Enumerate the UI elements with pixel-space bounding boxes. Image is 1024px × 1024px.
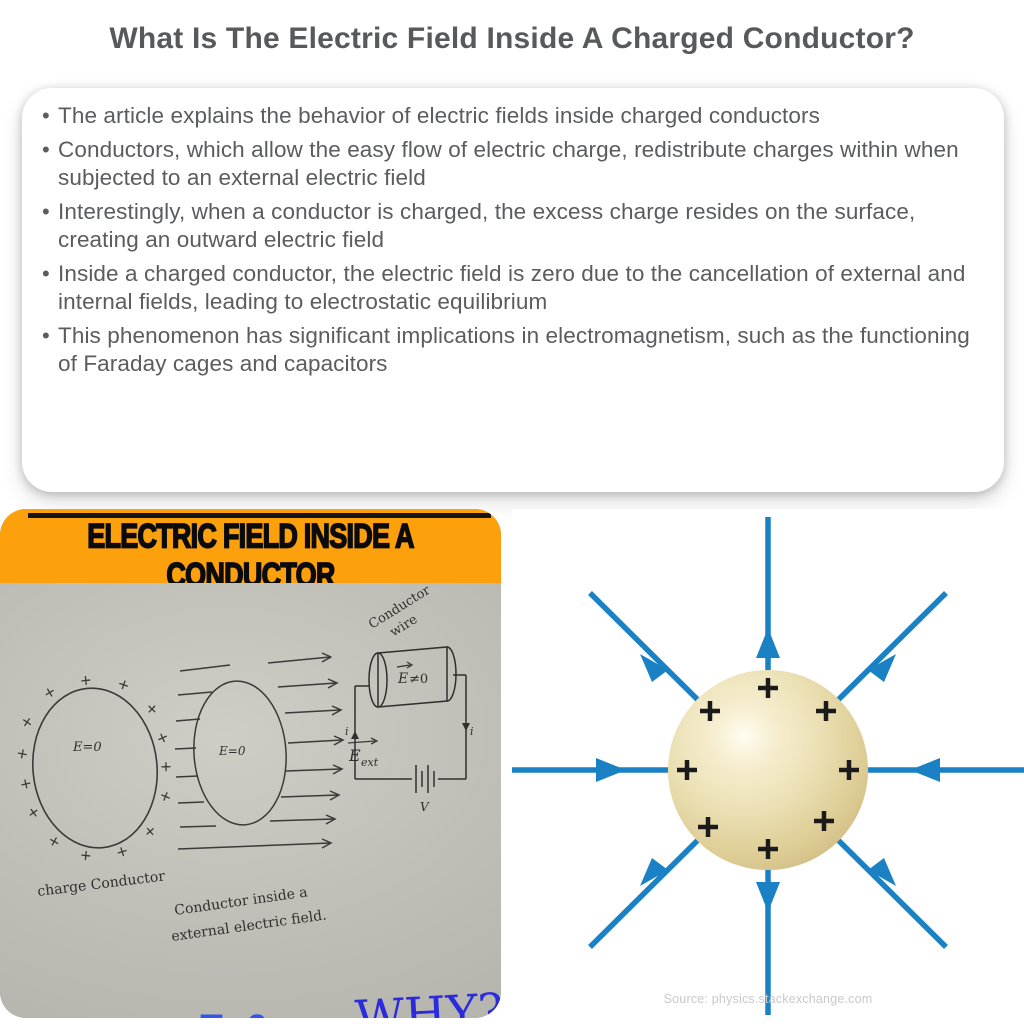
field-line-up <box>756 517 780 674</box>
surface-charge-marks <box>10 669 179 867</box>
bullet-marker-icon: • <box>42 260 50 288</box>
svg-text:≠0: ≠0 <box>409 672 428 687</box>
list-item: • The article explains the behavior of e… <box>38 102 990 130</box>
field-line-right <box>864 758 1024 782</box>
bullet-marker-icon: • <box>42 322 50 350</box>
diagram-external-field <box>175 653 343 849</box>
summary-card: • The article explains the behavior of e… <box>22 88 1004 492</box>
bullet-text: Inside a charged conductor, the electric… <box>58 261 965 314</box>
list-item: • This phenomenon has significant implic… <box>38 322 990 378</box>
field-line-down-left <box>590 838 700 947</box>
whiteboard-photo: ELECTRIC FIELD INSIDE A CONDUCTOR <box>0 509 501 1018</box>
charged-sphere-diagram: Source: physics.stackexchange.com <box>512 509 1024 1018</box>
whiteboard-banner-title: ELECTRIC FIELD INSIDE A CONDUCTOR <box>18 518 484 583</box>
bullet-text: Interestingly, when a conductor is charg… <box>58 199 915 252</box>
field-line-down-right <box>836 838 946 947</box>
bullet-text: The article explains the behavior of ele… <box>58 103 820 128</box>
overlay-label-blue: E=0 <box>198 1007 267 1018</box>
whiteboard-drawings: E=0 charge Conductor <box>0 583 501 1018</box>
list-item: • Interestingly, when a conductor is cha… <box>38 198 990 254</box>
diagram-conductor-wire <box>351 647 470 793</box>
whiteboard-surface: E=0 charge Conductor <box>0 583 501 1018</box>
diagram1-caption: charge Conductor <box>37 868 167 900</box>
field-line-up-right <box>836 593 946 702</box>
diagram3-current-label-right: i <box>470 725 474 738</box>
diagram3-inside-label: E ≠0 <box>397 662 428 687</box>
bullet-text: This phenomenon has significant implicat… <box>58 323 970 376</box>
diagram2-inside-label: E=0 <box>218 744 246 758</box>
field-line-up-left <box>590 593 700 702</box>
sphere-field-svg <box>512 509 1024 1018</box>
field-line-left <box>512 758 672 782</box>
bullet-marker-icon: • <box>42 136 50 164</box>
bullet-text: Conductors, which allow the easy flow of… <box>58 137 959 190</box>
svg-text:ext: ext <box>361 756 379 769</box>
svg-text:E: E <box>397 671 408 687</box>
list-item: • Inside a charged conductor, the electr… <box>38 260 990 316</box>
diagram2-field-label: E ext <box>348 738 379 769</box>
bullet-marker-icon: • <box>42 198 50 226</box>
diagram3-wire-label: Conductor wire <box>366 583 443 648</box>
diagram1-inside-label: E=0 <box>72 740 102 755</box>
summary-bullet-list: • The article explains the behavior of e… <box>38 102 990 384</box>
whiteboard-banner: ELECTRIC FIELD INSIDE A CONDUCTOR <box>0 509 501 583</box>
page-title: What Is The Electric Field Inside A Char… <box>0 22 1024 56</box>
list-item: • Conductors, which allow the easy flow … <box>38 136 990 192</box>
page-root: What Is The Electric Field Inside A Char… <box>0 0 1024 1024</box>
sphere-source-credit: Source: physics.stackexchange.com <box>512 992 1024 1006</box>
diagram3-voltage-label: V <box>420 800 430 814</box>
diagram3-current-label-left: i <box>345 725 349 738</box>
diagram-charged-conductor <box>25 682 165 854</box>
bullet-marker-icon: • <box>42 102 50 130</box>
